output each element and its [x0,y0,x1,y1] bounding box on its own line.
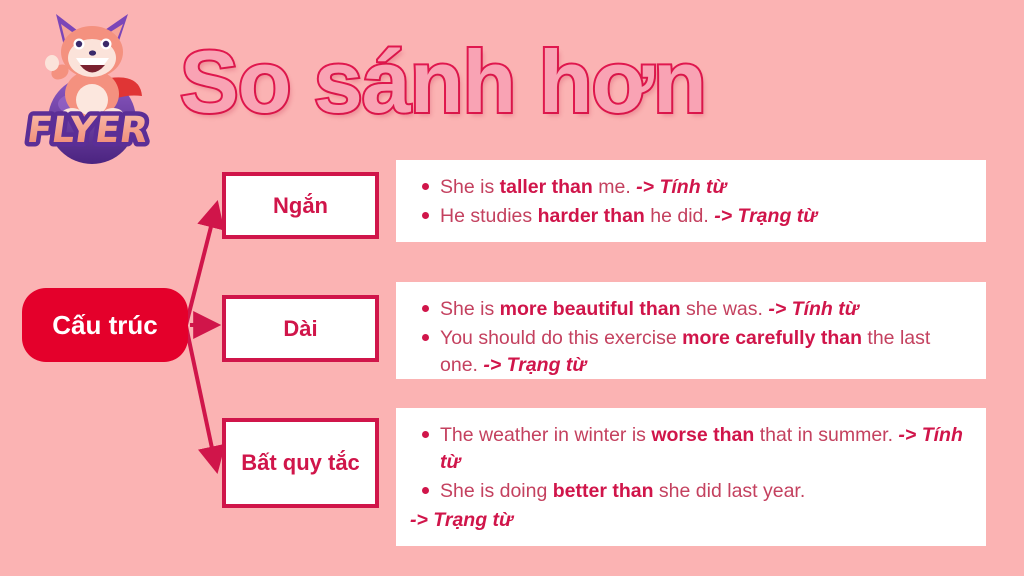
example-list: She is taller than me. -> Tính từHe stud… [410,174,972,230]
examples-panel-ngan: She is taller than me. -> Tính từHe stud… [396,160,986,242]
example-text-span: worse than [651,424,754,446]
example-text-span: She is [440,176,500,198]
example-text-span: The weather in winter is [440,424,651,446]
page-title: So sánh hơn [180,22,880,142]
example-list: She is more beautiful than she was. -> T… [410,296,972,379]
branch-box-dai[interactable]: Dài [222,295,379,362]
branch-box-bat-quy-tac[interactable]: Bất quy tắc [222,418,379,508]
example-text-span: more beautiful than [500,298,681,320]
example-item: She is doing better than she did last ye… [410,478,972,505]
example-item: He studies harder than he did. -> Trạng … [410,203,972,230]
example-text-span: She is [440,298,500,320]
panel-trailing-note: -> Trạng từ [410,507,972,534]
root-node-cau-truc[interactable]: Cấu trúc [22,288,188,362]
example-text-span: -> Trạng từ [483,354,586,376]
example-item: The weather in winter is worse than that… [410,422,972,476]
example-text-span: she did last year. [654,480,806,502]
flyer-logo: FLYER FLYER [18,8,166,168]
branch-label: Dài [283,316,317,342]
example-text-span: more carefully than [682,327,862,349]
example-text-span: taller than [500,176,593,198]
example-text-span: She is doing [440,480,553,502]
example-item: She is more beautiful than she was. -> T… [410,296,972,323]
example-text-span: -> Tính từ [636,176,726,198]
example-item: She is taller than me. -> Tính từ [410,174,972,201]
branch-label: Bất quy tắc [241,450,360,476]
example-text-span: -> Trạng từ [714,205,817,227]
examples-panel-dai: She is more beautiful than she was. -> T… [396,282,986,379]
example-text-span: that in summer. [754,424,898,446]
branch-box-ngan[interactable]: Ngắn [222,172,379,239]
example-text-span: You should do this exercise [440,327,682,349]
example-text-span: he did. [645,205,714,227]
example-text-span: better than [553,480,654,502]
example-text-span: me. [593,176,636,198]
examples-panel-bat-quy-tac: The weather in winter is worse than that… [396,408,986,546]
slide-canvas: FLYER FLYER So sánh hơn Cấu trúc Ngắn Dà… [0,0,1024,576]
branch-label: Ngắn [273,193,328,219]
example-text-span: He studies [440,205,538,227]
example-item: You should do this exercise more careful… [410,325,972,379]
example-list: The weather in winter is worse than that… [410,422,972,505]
example-text-span: she was. [681,298,769,320]
example-text-span: harder than [538,205,645,227]
svg-text:FLYER: FLYER [25,108,151,151]
example-text-span: -> Tính từ [768,298,858,320]
root-node-label: Cấu trúc [52,310,157,341]
